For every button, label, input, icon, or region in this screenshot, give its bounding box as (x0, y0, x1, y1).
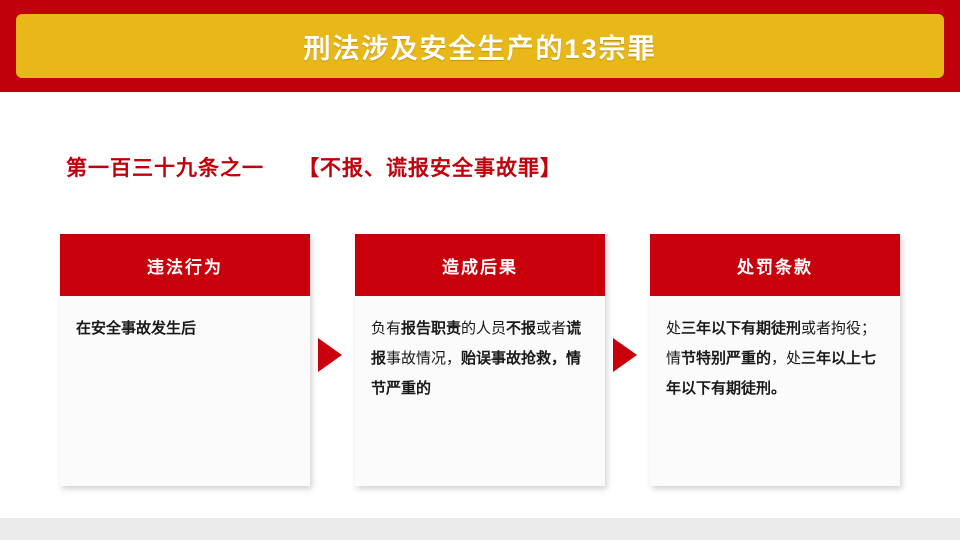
article-number: 第一百三十九条之一 (66, 152, 264, 182)
cards-row: 违法行为 在安全事故发生后 造成后果 负有报告职责的人员不报或者谎报事故情况，贻… (60, 234, 900, 486)
title-plaque: 刑法涉及安全生产的13宗罪 (16, 14, 944, 78)
arrow-right-icon-1 (318, 338, 342, 372)
card-penalty: 处罚条款 处三年以下有期徒刑或者拘役；情节特别严重的，处三年以上七年以下有期徒刑… (650, 234, 900, 486)
slide: 刑法涉及安全生产的13宗罪 第一百三十九条之一 【不报、谎报安全事故罪】 违法行… (0, 0, 960, 540)
card-body-penalty: 处三年以下有期徒刑或者拘役；情节特别严重的，处三年以上七年以下有期徒刑。 (650, 296, 900, 418)
bottom-grey-strip (0, 518, 960, 540)
card-header-consequence: 造成后果 (355, 234, 605, 296)
card-body-violation: 在安全事故发生后 (60, 296, 310, 358)
card-header-label: 违法行为 (147, 253, 223, 278)
card-consequence: 造成后果 负有报告职责的人员不报或者谎报事故情况，贻误事故抢救，情节严重的 (355, 234, 605, 486)
page-title: 刑法涉及安全生产的13宗罪 (303, 27, 656, 66)
article-heading: 第一百三十九条之一 【不报、谎报安全事故罪】 (66, 152, 562, 182)
card-header-label: 造成后果 (442, 253, 518, 278)
card-body-consequence: 负有报告职责的人员不报或者谎报事故情况，贻误事故抢救，情节严重的 (355, 296, 605, 418)
card-header-label: 处罚条款 (737, 253, 813, 278)
article-crime-name: 【不报、谎报安全事故罪】 (298, 152, 562, 182)
card-header-violation: 违法行为 (60, 234, 310, 296)
card-header-penalty: 处罚条款 (650, 234, 900, 296)
band-white-sliver (0, 92, 960, 98)
card-violation: 违法行为 在安全事故发生后 (60, 234, 310, 486)
arrow-right-icon-2 (613, 338, 637, 372)
